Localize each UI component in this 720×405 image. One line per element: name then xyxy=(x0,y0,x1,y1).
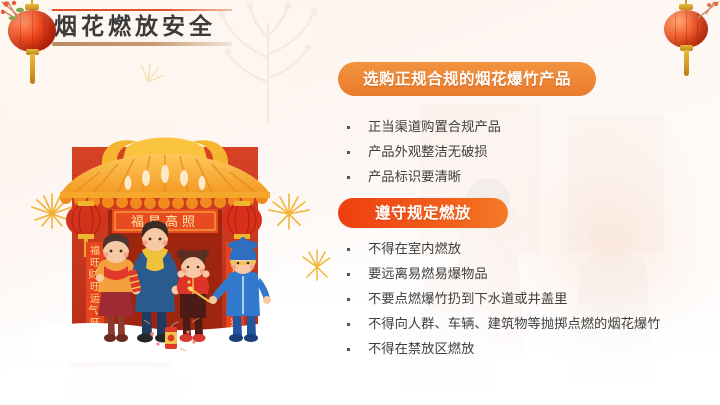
list-item: 产品外观整洁无破损 xyxy=(338,140,710,165)
bullet-marker-icon xyxy=(347,348,350,351)
list-item: 产品标识要清晰 xyxy=(338,165,710,190)
slide-canvas: 烟花燃放安全 xyxy=(0,0,720,405)
list-item: 不得在禁放区燃放 xyxy=(338,337,710,362)
list-item-label: 不得在禁放区燃放 xyxy=(368,342,474,357)
slide-title-block: 烟花燃放安全 xyxy=(52,9,232,46)
firework-icon-top xyxy=(142,64,164,82)
section-heading-1-pill: 选购正规合规的烟花爆竹产品 xyxy=(338,62,596,96)
plum-sprig-icon xyxy=(0,0,42,34)
list-item-label: 要远离易燃易爆物品 xyxy=(368,267,488,282)
list-item-label: 不得在室内燃放 xyxy=(368,242,461,257)
firework-icon-right-b xyxy=(303,250,330,280)
bullet-list-1: 正当渠道购置合规产品 产品外观整洁无破损 产品标识要清晰 xyxy=(338,115,710,190)
bullet-marker-icon xyxy=(347,126,350,129)
list-item: 不得在室内燃放 xyxy=(338,237,710,262)
list-item-label: 不要点燃爆竹扔到下水道或井盖里 xyxy=(368,292,567,307)
plum-sprig-icon-right xyxy=(694,0,720,26)
bullet-marker-icon xyxy=(347,298,350,301)
list-item: 正当渠道购置合规产品 xyxy=(338,115,710,140)
list-item: 不得向人群、车辆、建筑物等抛掷点燃的烟花爆竹 xyxy=(338,312,710,337)
section-heading-1-label: 选购正规合规的烟花爆竹产品 xyxy=(351,68,583,90)
bullet-marker-icon xyxy=(347,323,350,326)
list-item: 不要点燃爆竹扔到下水道或井盖里 xyxy=(338,287,710,312)
list-item-label: 产品外观整洁无破损 xyxy=(368,145,488,160)
list-item-label: 产品标识要清晰 xyxy=(368,170,461,185)
bullet-marker-icon xyxy=(347,248,350,251)
bullet-marker-icon xyxy=(347,176,350,179)
list-item-label: 不得向人群、车辆、建筑物等抛掷点燃的烟花爆竹 xyxy=(368,317,661,332)
chinese-new-year-gate-family-illustration: 福星高照 福旺财 旺运气 旺 家兴人 兴事业 兴 xyxy=(30,62,330,362)
firework-icon-right-a xyxy=(269,194,309,229)
list-item-label: 正当渠道购置合规产品 xyxy=(368,120,501,135)
section-heading-2-label: 遵守规定燃放 xyxy=(375,204,471,222)
title-rule-bottom xyxy=(52,42,232,46)
bullet-list-2: 不得在室内燃放 要远离易燃易爆物品 不要点燃爆竹扔到下水道或井盖里 不得向人群、… xyxy=(338,237,710,362)
list-item: 要远离易燃易爆物品 xyxy=(338,262,710,287)
content-column: 选购正规合规的烟花爆竹产品 正当渠道购置合规产品 产品外观整洁无破损 产品标识要… xyxy=(338,62,710,362)
page-title: 烟花燃放安全 xyxy=(52,11,232,42)
bullet-marker-icon xyxy=(347,151,350,154)
bullet-marker-icon xyxy=(347,273,350,276)
section-heading-2-pill: 遵守规定燃放 xyxy=(338,198,508,228)
